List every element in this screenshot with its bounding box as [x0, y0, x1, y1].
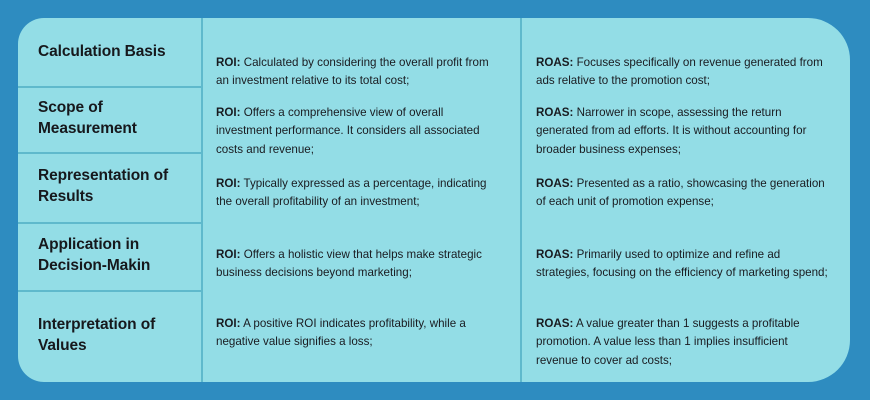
roas-cell-representation-of-results: ROAS: Presented as a ratio, showcasing t… [520, 175, 850, 213]
roas-description: Presented as a ratio, showcasing the gen… [536, 177, 825, 209]
roi-term: ROI: [216, 177, 240, 190]
roi-description: Offers a comprehensive view of overall i… [216, 106, 480, 157]
roi-description: Calculated by considering the overall pr… [216, 56, 489, 88]
roas-description: Narrower in scope, assessing the return … [536, 106, 806, 157]
roi-term: ROI: [216, 248, 240, 261]
table-row-label-scope-of-measurement: Scope of Measurement [18, 86, 201, 152]
roas-cell-application-in-decision-making: ROAS: Primarily used to optimize and ref… [520, 246, 850, 284]
roi-cell-application-in-decision-making: ROI: Offers a holistic view that helps m… [201, 246, 520, 284]
roas-term: ROAS: [536, 317, 573, 330]
roas-description: Focuses specifically on revenue generate… [536, 56, 823, 88]
row-label: Calculation Basis [38, 42, 166, 63]
roi-cell-scope-of-measurement: ROI: Offers a comprehensive view of over… [201, 104, 520, 161]
roi-cell-representation-of-results: ROI: Typically expressed as a percentage… [201, 175, 520, 213]
row-label: Representation of Results [38, 166, 185, 207]
column-roas: ROAS: Focuses specifically on revenue ge… [520, 18, 850, 382]
roas-cell-calculation-basis: ROAS: Focuses specifically on revenue ge… [520, 54, 850, 92]
roas-term: ROAS: [536, 177, 573, 190]
table-row-label-calculation-basis: Calculation Basis [18, 18, 201, 86]
row-label: Application in Decision-Makin [38, 235, 185, 276]
roas-description: Primarily used to optimize and refine ad… [536, 248, 828, 280]
table-row-label-application-in-decision-making: Application in Decision-Makin [18, 222, 201, 290]
roas-description: A value greater than 1 suggests a profit… [536, 317, 800, 368]
roas-cell-scope-of-measurement: ROAS: Narrower in scope, assessing the r… [520, 104, 850, 161]
roi-term: ROI: [216, 317, 240, 330]
comparison-table-card: Calculation Basis Scope of Measurement R… [18, 18, 850, 382]
table-row-label-representation-of-results: Representation of Results [18, 152, 201, 222]
table-row-label-interpretation-of-values: Interpretation of Values [18, 290, 201, 382]
roi-cell-calculation-basis: ROI: Calculated by considering the overa… [201, 54, 520, 92]
roi-term: ROI: [216, 106, 240, 119]
roi-cell-interpretation-of-values: ROI: A positive ROI indicates profitabil… [201, 315, 520, 353]
row-label: Scope of Measurement [38, 98, 185, 139]
roi-description: A positive ROI indicates profitability, … [216, 317, 466, 349]
roas-term: ROAS: [536, 56, 573, 69]
comparison-table: Calculation Basis Scope of Measurement R… [18, 18, 850, 382]
page-canvas: Calculation Basis Scope of Measurement R… [0, 0, 870, 400]
roas-term: ROAS: [536, 248, 573, 261]
row-label: Interpretation of Values [38, 315, 185, 356]
roi-description: Typically expressed as a percentage, ind… [216, 177, 486, 209]
column-roi: ROI: Calculated by considering the overa… [201, 18, 520, 382]
roi-description: Offers a holistic view that helps make s… [216, 248, 482, 280]
roas-cell-interpretation-of-values: ROAS: A value greater than 1 suggests a … [520, 315, 850, 372]
roas-term: ROAS: [536, 106, 573, 119]
roi-term: ROI: [216, 56, 240, 69]
